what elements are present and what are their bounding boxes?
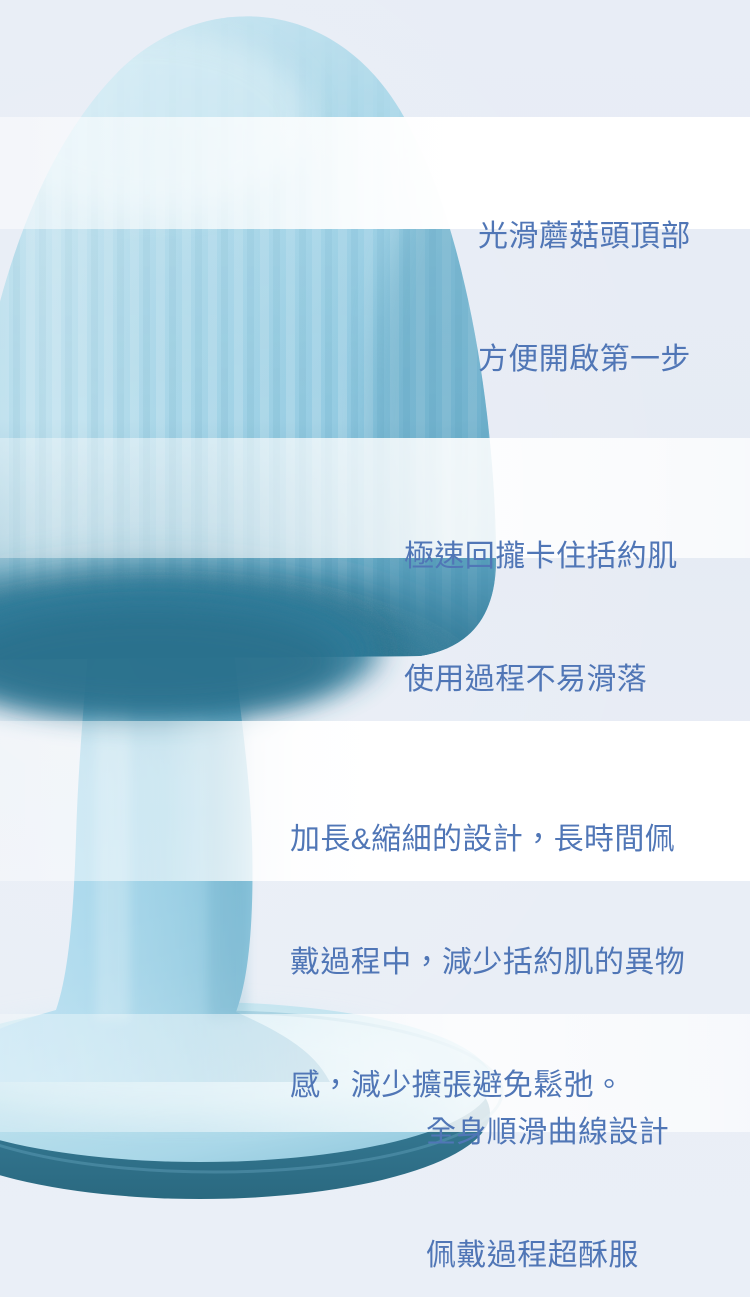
caption-line: 使用過程不易滑落 xyxy=(404,659,678,700)
caption-line: 加長&縮細的設計，長時間佩 xyxy=(290,819,685,860)
caption-line: 光滑蘑菇頭頂部 xyxy=(478,216,691,257)
caption-line: 戴過程中，減少括約肌的異物 xyxy=(290,942,685,983)
caption-line: 全身順滑曲線設計 xyxy=(426,1112,669,1153)
caption-smooth-head: 光滑蘑菇頭頂部 方便開啟第一步 xyxy=(478,134,691,462)
caption-line: 佩戴過程超酥服 xyxy=(426,1235,669,1276)
caption-fast-retract: 極速回攏卡住括約肌 使用過程不易滑落 xyxy=(404,454,678,782)
caption-line: 極速回攏卡住括約肌 xyxy=(404,536,678,577)
caption-line: 方便開啟第一步 xyxy=(478,339,691,380)
product-feature-poster: 光滑蘑菇頭頂部 方便開啟第一步 極速回攏卡住括約肌 使用過程不易滑落 加長&縮細… xyxy=(0,0,750,1297)
caption-smooth-curve: 全身順滑曲線設計 佩戴過程超酥服 xyxy=(426,1030,669,1297)
